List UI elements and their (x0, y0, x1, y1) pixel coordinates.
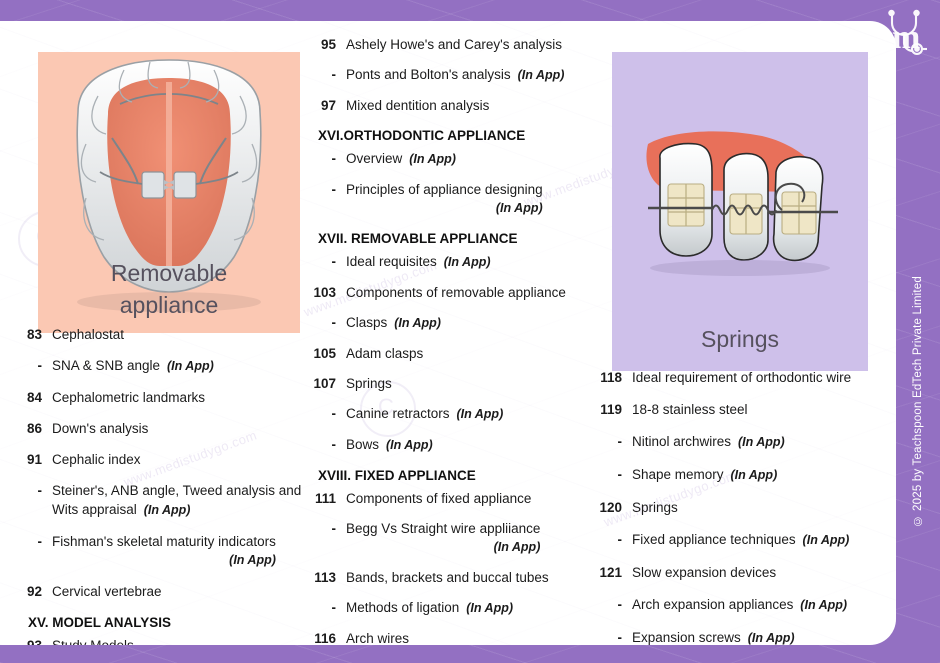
toc-entry-bullet: - (312, 180, 336, 199)
toc-entry-page-number: 118 (598, 368, 622, 387)
toc-entry-page-number: 116 (312, 629, 336, 645)
toc-entry-bullet: - (598, 432, 622, 451)
toc-entry[interactable]: -Shape memory (In App) (598, 465, 896, 485)
in-app-badge: (In App) (402, 152, 456, 166)
toc-entry[interactable]: -Nitinol archwires (In App) (598, 432, 896, 452)
in-app-badge: (In App) (793, 598, 847, 612)
toc-entry-label: Down's analysis (52, 419, 148, 438)
toc-entry-page-number: 86 (22, 419, 42, 438)
toc-entry-label: Arch expansion appliances (In App) (632, 595, 847, 615)
toc-entry[interactable]: 121Slow expansion devices (598, 563, 896, 582)
figure-springs: Springs (612, 52, 868, 371)
toc-entry-bullet: - (598, 595, 622, 614)
toc-entry[interactable]: -Fishman's skeletal maturity indicators(… (22, 532, 322, 570)
figure-removable-appliance: Removable appliance (38, 52, 300, 333)
in-app-badge: (In App) (52, 551, 276, 570)
caption-line-2: appliance (120, 292, 218, 318)
figure-caption-springs: Springs (612, 323, 868, 355)
toc-entry[interactable]: 118Ideal requirement of orthodontic wire (598, 368, 896, 387)
toc-entry-label: Bands, brackets and buccal tubes (346, 568, 549, 587)
toc-entry-bullet: - (312, 252, 336, 271)
toc-entry-label: Cephalic index (52, 450, 141, 469)
toc-section-heading: XVIII. FIXED APPLIANCE (318, 466, 598, 485)
toc-entry-bullet: - (312, 65, 336, 84)
toc-entry-bullet: - (312, 313, 336, 332)
toc-entry-bullet: - (598, 628, 622, 645)
toc-entry[interactable]: -Ideal requisites (In App) (312, 252, 598, 272)
toc-entry[interactable]: -Fixed appliance techniques (In App) (598, 530, 896, 550)
toc-entry-page-number: 107 (312, 374, 336, 393)
toc-entry[interactable]: 92Cervical vertebrae (22, 582, 322, 601)
toc-entry-bullet: - (312, 519, 336, 538)
toc-entry-label: Cephalostat (52, 325, 124, 344)
in-app-badge: (In App) (511, 68, 565, 82)
toc-entry-label: Ponts and Bolton's analysis (In App) (346, 65, 564, 85)
toc-section-heading: XVI.ORTHODONTIC APPLIANCE (318, 126, 598, 145)
toc-entry-label: Expansion screws (In App) (632, 628, 795, 645)
copyright-strip: © 2025 by Teachspoon EdTech Private Limi… (896, 0, 940, 663)
toc-entry[interactable]: -Canine retractors (In App) (312, 404, 598, 424)
toc-entry[interactable]: -Overview (In App) (312, 149, 598, 169)
toc-entry[interactable]: 97Mixed dentition analysis (312, 96, 598, 115)
toc-entry-label: Components of removable appliance (346, 283, 566, 302)
toc-entry-page-number: 103 (312, 283, 336, 302)
toc-entry[interactable]: -Expansion screws (In App) (598, 628, 896, 645)
toc-entry-label: Cephalometric landmarks (52, 388, 205, 407)
toc-entry[interactable]: 111Components of fixed appliance (312, 489, 598, 508)
toc-entry[interactable]: -Principles of appliance designing(In Ap… (312, 180, 598, 218)
toc-entry-label: Canine retractors (In App) (346, 404, 503, 424)
toc-entry-page-number: 83 (22, 325, 42, 344)
toc-entry-page-number: 97 (312, 96, 336, 115)
in-app-badge: (In App) (796, 533, 850, 547)
toc-entry-page-number: 93 (22, 636, 42, 645)
toc-entry-label: Ideal requisites (In App) (346, 252, 491, 272)
in-app-badge: (In App) (379, 438, 433, 452)
in-app-badge: (In App) (741, 631, 795, 645)
toc-entry-label: Bows (In App) (346, 435, 433, 455)
figure-caption-removable: Removable appliance (38, 257, 300, 321)
toc-entry-label: Principles of appliance designing(In App… (346, 180, 543, 218)
in-app-badge: (In App) (160, 359, 214, 373)
toc-entry[interactable]: -SNA & SNB angle (In App) (22, 356, 322, 376)
toc-entry[interactable]: 91Cephalic index (22, 450, 322, 469)
toc-entry-page-number: 120 (598, 498, 622, 517)
toc-entry-label: 18-8 stainless steel (632, 400, 748, 419)
toc-entry-page-number: 121 (598, 563, 622, 582)
toc-entry[interactable]: 107Springs (312, 374, 598, 393)
toc-entry-label: Begg Vs Straight wire appliiance(In App) (346, 519, 540, 557)
toc-list-middle: 95Ashely Howe's and Carey's analysis-Pon… (312, 35, 598, 645)
toc-entry-label: Mixed dentition analysis (346, 96, 489, 115)
toc-entry[interactable]: -Methods of ligation (In App) (312, 598, 598, 618)
toc-entry[interactable]: 105Adam clasps (312, 344, 598, 363)
toc-entry-bullet: - (22, 356, 42, 375)
in-app-badge: (In App) (450, 407, 504, 421)
toc-entry[interactable]: -Begg Vs Straight wire appliiance(In App… (312, 519, 598, 557)
book-page: www.medistudygo.com www.medistudygo.com … (0, 21, 896, 645)
toc-entry-label: Springs (346, 374, 392, 393)
toc-entry-page-number: 91 (22, 450, 42, 469)
toc-entry[interactable]: 116Arch wires (312, 629, 598, 645)
toc-entry-page-number: 95 (312, 35, 336, 54)
toc-entry[interactable]: 11918-8 stainless steel (598, 400, 896, 419)
toc-entry-label: Fixed appliance techniques (In App) (632, 530, 849, 550)
toc-entry[interactable]: 103Components of removable appliance (312, 283, 598, 302)
toc-entry[interactable]: -Bows (In App) (312, 435, 598, 455)
toc-entry[interactable]: 120Springs (598, 498, 896, 517)
copyright-text: © 2025 by Teachspoon EdTech Private Limi… (912, 276, 924, 527)
toc-entry-bullet: - (22, 532, 42, 551)
toc-entry-bullet: - (598, 530, 622, 549)
toc-entry-label: Fishman's skeletal maturity indicators(I… (52, 532, 276, 570)
toc-entry-bullet: - (312, 598, 336, 617)
toc-entry[interactable]: -Clasps (In App) (312, 313, 598, 333)
in-app-badge: (In App) (137, 503, 191, 517)
toc-list-right: 118Ideal requirement of orthodontic wire… (598, 368, 896, 645)
toc-entry-page-number: 84 (22, 388, 42, 407)
toc-entry-page-number: 105 (312, 344, 336, 363)
toc-section-heading: XVII. REMOVABLE APPLIANCE (318, 229, 598, 248)
toc-entry-page-number: 92 (22, 582, 42, 601)
toc-entry-label: Shape memory (In App) (632, 465, 777, 485)
in-app-badge: (In App) (387, 316, 441, 330)
in-app-badge: (In App) (346, 538, 540, 557)
toc-entry-bullet: - (22, 481, 42, 500)
toc-entry-label: SNA & SNB angle (In App) (52, 356, 214, 376)
toc-entry[interactable]: 113Bands, brackets and buccal tubes (312, 568, 598, 587)
toc-entry-label: Adam clasps (346, 344, 423, 363)
toc-entry[interactable]: 83Cephalostat (22, 325, 322, 344)
toc-entry-label: Slow expansion devices (632, 563, 776, 582)
toc-entry-label: Components of fixed appliance (346, 489, 531, 508)
in-app-badge: (In App) (437, 255, 491, 269)
toc-entry-label: Ideal requirement of orthodontic wire (632, 368, 851, 387)
toc-entry-label: Ashely Howe's and Carey's analysis (346, 35, 562, 54)
toc-entry-page-number: 119 (598, 400, 622, 419)
toc-entry-bullet: - (312, 149, 336, 168)
toc-entry-page-number: 111 (312, 489, 336, 508)
toc-entry-label: Nitinol archwires (In App) (632, 432, 785, 452)
toc-entry-bullet: - (312, 404, 336, 423)
toc-entry-label: Cervical vertebrae (52, 582, 162, 601)
toc-entry[interactable]: 95Ashely Howe's and Carey's analysis (312, 35, 598, 54)
toc-entry-label: Arch wires (346, 629, 409, 645)
toc-entry[interactable]: -Ponts and Bolton's analysis (In App) (312, 65, 598, 85)
toc-entry[interactable]: -Steiner's, ANB angle, Tweed analysis an… (22, 481, 322, 520)
in-app-badge: (In App) (724, 468, 778, 482)
toc-entry-label: Study Models (52, 636, 134, 645)
in-app-badge: (In App) (459, 601, 513, 615)
toc-entry-bullet: - (598, 465, 622, 484)
toc-entry-label: Springs (632, 498, 678, 517)
in-app-badge: (In App) (731, 435, 785, 449)
toc-entry[interactable]: 86Down's analysis (22, 419, 322, 438)
toc-entry-page-number: 113 (312, 568, 336, 587)
toc-entry-label: Steiner's, ANB angle, Tweed analysis and… (52, 481, 322, 520)
in-app-badge: (In App) (346, 199, 543, 218)
toc-entry-bullet: - (312, 435, 336, 454)
toc-entry-label: Overview (In App) (346, 149, 456, 169)
toc-section-heading: XV. MODEL ANALYSIS (28, 613, 322, 632)
toc-entry-label: Methods of ligation (In App) (346, 598, 513, 618)
toc-entry[interactable]: 84Cephalometric landmarks (22, 388, 322, 407)
toc-list-left: 83Cephalostat-SNA & SNB angle (In App)84… (22, 325, 322, 645)
medistudygo-stethoscope-m-logo: m (878, 4, 934, 60)
toc-entry[interactable]: -Arch expansion appliances (In App) (598, 595, 896, 615)
toc-entry-label: Clasps (In App) (346, 313, 441, 333)
toc-entry[interactable]: 93Study Models (22, 636, 322, 645)
caption-line-1: Removable (111, 260, 227, 286)
